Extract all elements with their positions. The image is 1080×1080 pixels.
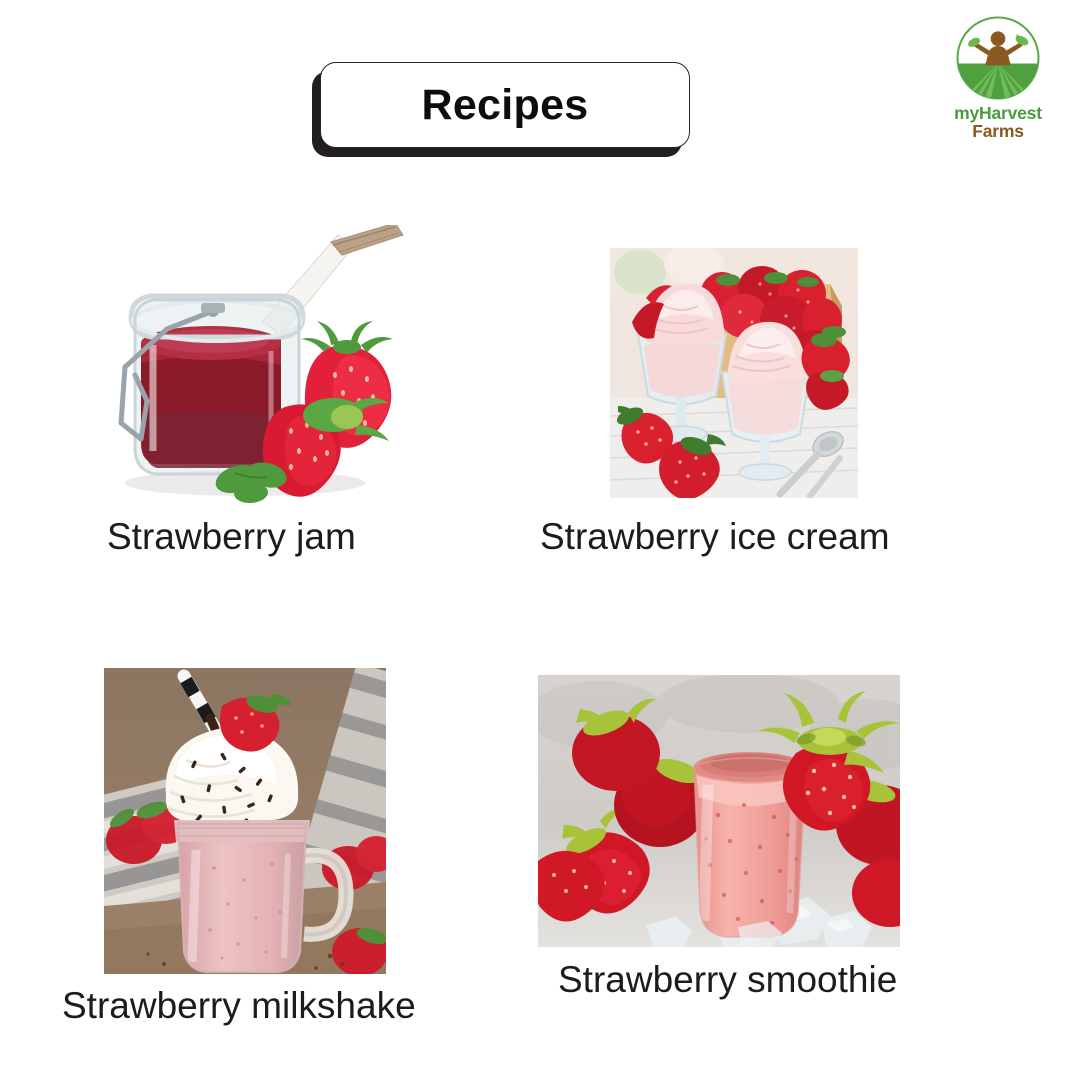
brand-logo: myHarvest Farms bbox=[938, 12, 1058, 142]
strawberry-jam-photo bbox=[95, 225, 415, 505]
recipe-row-2: Strawberry milkshake bbox=[0, 620, 1080, 1040]
strawberry-ice-cream-photo bbox=[610, 248, 858, 498]
logo-text-line1: myHarvest bbox=[938, 104, 1058, 122]
recipe-card-strawberry-jam[interactable]: Strawberry jam bbox=[95, 225, 415, 505]
recipe-caption: Strawberry jam bbox=[107, 517, 356, 558]
recipe-card-strawberry-smoothie[interactable]: Strawberry smoothie bbox=[538, 675, 900, 947]
recipe-caption: Strawberry smoothie bbox=[558, 960, 897, 1001]
recipes-poster: Recipes bbox=[0, 0, 1080, 1080]
logo-text-line2: Farms bbox=[938, 122, 1058, 141]
strawberry-smoothie-photo bbox=[538, 675, 900, 947]
recipe-caption: Strawberry ice cream bbox=[540, 517, 890, 558]
recipe-grid: Strawberry jam bbox=[0, 200, 1080, 1040]
recipe-card-strawberry-milkshake[interactable]: Strawberry milkshake bbox=[104, 668, 386, 974]
page-title: Recipes bbox=[421, 84, 588, 127]
myharvest-farms-logo-icon bbox=[952, 12, 1044, 104]
page-title-badge: Recipes bbox=[320, 62, 690, 148]
recipe-card-strawberry-ice-cream[interactable]: Strawberry ice cream bbox=[610, 248, 858, 498]
recipe-caption: Strawberry milkshake bbox=[62, 986, 416, 1027]
strawberry-milkshake-photo bbox=[104, 668, 386, 974]
recipe-row-1: Strawberry jam bbox=[0, 200, 1080, 620]
